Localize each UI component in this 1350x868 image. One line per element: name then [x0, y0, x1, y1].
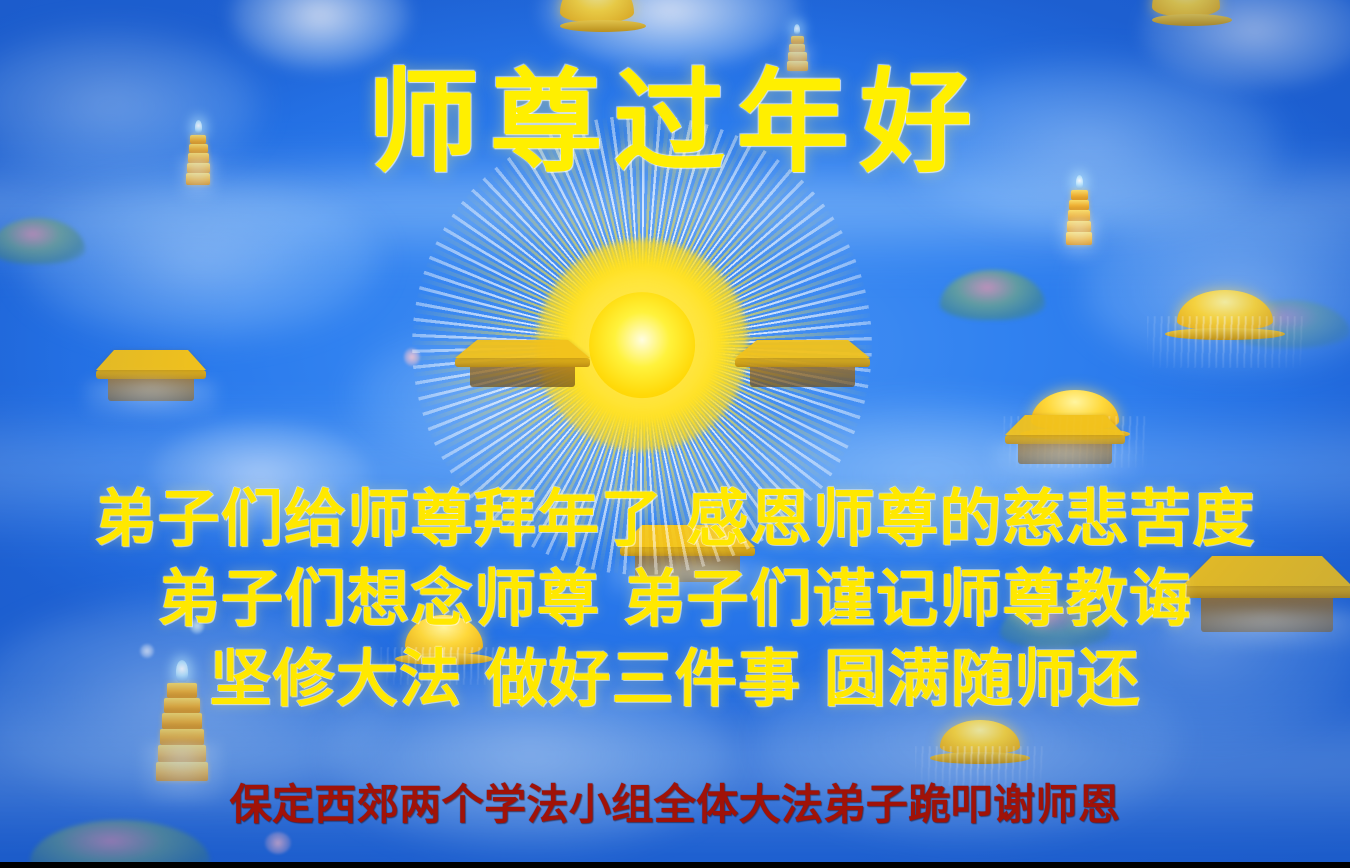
verse-line-2: 弟子们想念师尊 弟子们谨记师尊教诲: [0, 566, 1350, 633]
signature-line: 保定西郊两个学法小组全体大法弟子跪叩谢师恩: [0, 782, 1350, 828]
greeting-card: 师尊过年好 弟子们给师尊拜年了 感恩师尊的慈悲苦度 弟子们想念师尊 弟子们谨记师…: [0, 0, 1350, 868]
verse-line-3: 坚修大法 做好三件事 圆满随师还: [0, 646, 1350, 713]
bottom-black-bar: [0, 862, 1350, 868]
page-title: 师尊过年好: [0, 64, 1350, 182]
verse-line-1: 弟子们给师尊拜年了 感恩师尊的慈悲苦度: [0, 486, 1350, 553]
